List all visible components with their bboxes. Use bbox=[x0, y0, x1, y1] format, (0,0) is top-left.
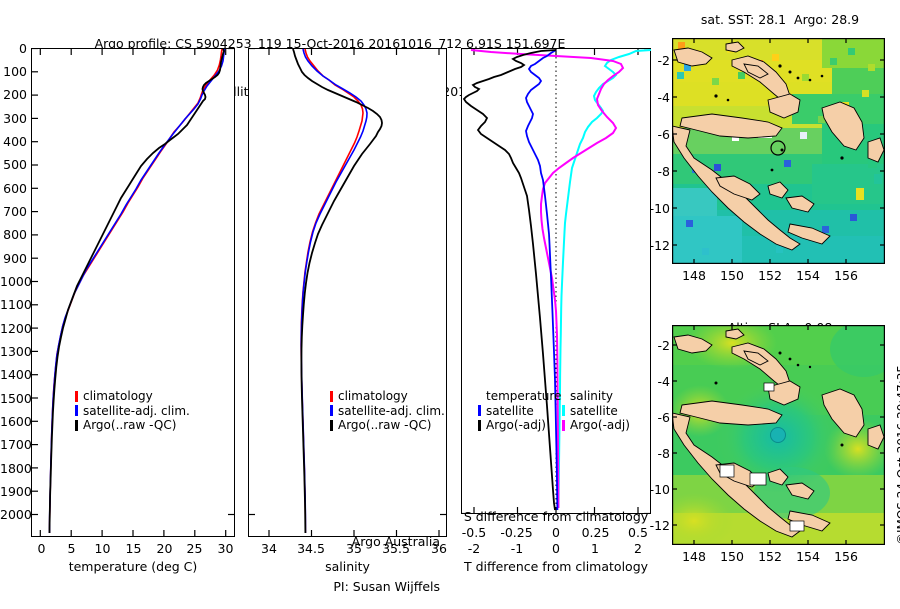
legend-swatch-satellite-adj bbox=[75, 405, 78, 416]
legend-label: Argo(..raw -QC) bbox=[338, 418, 431, 433]
legend-swatch-argo bbox=[330, 420, 333, 431]
legend-group-title: salinity bbox=[562, 389, 630, 404]
legend-label: Argo(..raw -QC) bbox=[83, 418, 176, 433]
legend-label: satellite-adj. clim. bbox=[83, 404, 190, 419]
salinity-plot-canvas bbox=[248, 48, 447, 537]
legend-swatch-argo bbox=[75, 420, 78, 431]
legend-swatch-t-satellite bbox=[478, 405, 481, 416]
legend-swatch-climatology bbox=[75, 391, 78, 402]
legend-label: Argo(-adj) bbox=[570, 418, 630, 433]
legend-swatch-s-argo bbox=[562, 420, 565, 431]
sla-map[interactable] bbox=[672, 325, 885, 545]
legend-item: satellite-adj. clim. bbox=[75, 404, 190, 419]
legend-item: Argo(..raw -QC) bbox=[75, 418, 190, 433]
legend-item: satellite bbox=[562, 404, 630, 419]
legend-swatch-climatology bbox=[330, 391, 333, 402]
legend-item: Argo(-adj) bbox=[478, 418, 561, 433]
difference-plot-canvas bbox=[461, 48, 651, 514]
legend-label: satellite bbox=[486, 404, 534, 419]
legend-group-title: temperature bbox=[478, 389, 561, 404]
temperature-plot-canvas bbox=[31, 48, 235, 537]
legend-spacer bbox=[478, 391, 481, 402]
sla-raster bbox=[672, 325, 885, 545]
legend-label: satellite bbox=[570, 404, 618, 419]
legend-item: satellite bbox=[478, 404, 561, 419]
difference-legend-temperature: temperature satellite Argo(-adj) bbox=[478, 389, 561, 433]
copyright-notice: ©IMOS 24-Oct-2016 20:47:35 bbox=[895, 365, 900, 545]
legend-item: climatology bbox=[75, 389, 190, 404]
salinity-legend: climatology satellite-adj. clim. Argo(..… bbox=[330, 389, 445, 433]
attribution-agency: Argo Australia bbox=[305, 534, 440, 549]
difference-s-axis-title: S difference from climatology bbox=[461, 509, 651, 524]
legend-title-salinity: salinity bbox=[570, 389, 613, 404]
sst-map[interactable] bbox=[672, 38, 885, 264]
difference-t-axis-title: T difference from climatology bbox=[461, 559, 651, 574]
legend-item: satellite-adj. clim. bbox=[330, 404, 445, 419]
legend-item: climatology bbox=[330, 389, 445, 404]
legend-item: Argo(..raw -QC) bbox=[330, 418, 445, 433]
difference-legend-salinity: salinity satellite Argo(-adj) bbox=[562, 389, 630, 433]
legend-swatch-satellite-adj bbox=[330, 405, 333, 416]
legend-swatch-t-argo bbox=[478, 420, 481, 431]
legend-spacer bbox=[562, 391, 565, 402]
attribution-pi: PI: Susan Wijffels bbox=[305, 579, 440, 594]
attribution-block: Argo Australia PI: Susan Wijffels bbox=[305, 504, 440, 609]
argo-position-marker bbox=[771, 428, 786, 443]
sst-raster bbox=[672, 38, 885, 264]
temperature-axis-title: temperature (deg C) bbox=[31, 559, 235, 574]
legend-item: Argo(-adj) bbox=[562, 418, 630, 433]
legend-label: climatology bbox=[338, 389, 408, 404]
legend-label: Argo(-adj) bbox=[486, 418, 546, 433]
sst-map-title: sat. SST: 28.1 Argo: 28.9 bbox=[660, 12, 900, 27]
legend-label: climatology bbox=[83, 389, 153, 404]
legend-swatch-s-satellite bbox=[562, 405, 565, 416]
temperature-legend: climatology satellite-adj. clim. Argo(..… bbox=[75, 389, 190, 433]
legend-title-temperature: temperature bbox=[486, 389, 561, 404]
legend-label: satellite-adj. clim. bbox=[338, 404, 445, 419]
